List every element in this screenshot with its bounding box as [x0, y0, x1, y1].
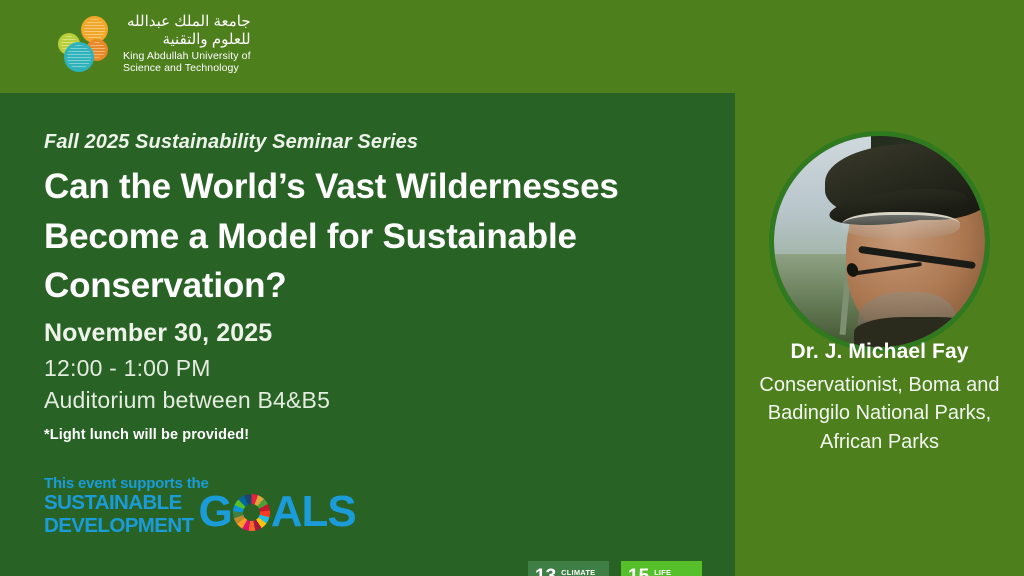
kaust-english-line-1: King Abdullah University of: [123, 50, 251, 63]
sdg-goal-tiles: 13 CLIMATE ACTION 15 LIFE ON LAND: [528, 561, 702, 576]
sdg-goal-13-head: 13 CLIMATE ACTION: [535, 568, 609, 576]
sdg-goals-row: SUSTAINABLE DEVELOPMENT G ALS: [44, 493, 356, 536]
event-title: Can the World’s Vast Wildernesses Become…: [44, 162, 704, 311]
sdg-stack: SUSTAINABLE DEVELOPMENT: [44, 493, 193, 536]
sdg-goal-tile-15: 15 LIFE ON LAND: [621, 561, 702, 576]
sdg-stack-line-2: DEVELOPMENT: [44, 516, 193, 537]
sdg-goal-13-name-line-1: CLIMATE: [561, 568, 595, 576]
sdg-goal-15-number: 15: [628, 568, 649, 576]
event-note: *Light lunch will be provided!: [44, 427, 249, 443]
sdg-goal-15-name: LIFE ON LAND: [654, 568, 690, 576]
sdg-goal-15-name-line-1: LIFE: [654, 568, 671, 576]
sdg-stack-line-1: SUSTAINABLE: [44, 493, 193, 514]
kaust-english-line-2: Science and Technology: [123, 62, 251, 75]
speaker-affiliation: Conservationist, Boma and Badingilo Nati…: [735, 371, 1024, 456]
seminar-series-label: Fall 2025 Sustainability Seminar Series: [44, 131, 418, 154]
sdg-goal-13-name: CLIMATE ACTION: [561, 568, 595, 576]
speaker-panel: Dr. J. Michael Fay Conservationist, Boma…: [735, 0, 1024, 576]
speaker-photo: [769, 131, 990, 352]
kaust-arabic-line-1: جامعة الملك عبدالله: [123, 13, 251, 31]
event-details-panel: Fall 2025 Sustainability Seminar Series …: [0, 93, 735, 576]
event-date: November 30, 2025: [44, 319, 272, 348]
speaker-name: Dr. J. Michael Fay: [735, 340, 1024, 364]
event-time: 12:00 - 1:00 PM: [44, 355, 211, 382]
sdg-goals-word: G ALS: [198, 490, 355, 534]
event-location: Auditorium between B4&B5: [44, 387, 330, 414]
kaust-logo: جامعة الملك عبدالله للعلوم والتقنية King…: [56, 13, 251, 75]
sdg-goals-letter-g: G: [198, 490, 231, 534]
sdg-goal-15-head: 15 LIFE ON LAND: [628, 568, 702, 576]
sdg-goal-tile-13: 13 CLIMATE ACTION: [528, 561, 609, 576]
sdg-color-wheel-icon: [233, 494, 270, 531]
kaust-wordmark: جامعة الملك عبدالله للعلوم والتقنية King…: [123, 13, 251, 75]
kaust-arabic-line-2: للعلوم والتقنية: [123, 31, 251, 49]
sdg-goals-letters-als: ALS: [271, 490, 356, 534]
sdg-goal-13-number: 13: [535, 568, 556, 576]
sdg-lockup: This event supports the SUSTAINABLE DEVE…: [44, 475, 356, 536]
kaust-logo-mark-icon: [56, 14, 114, 74]
